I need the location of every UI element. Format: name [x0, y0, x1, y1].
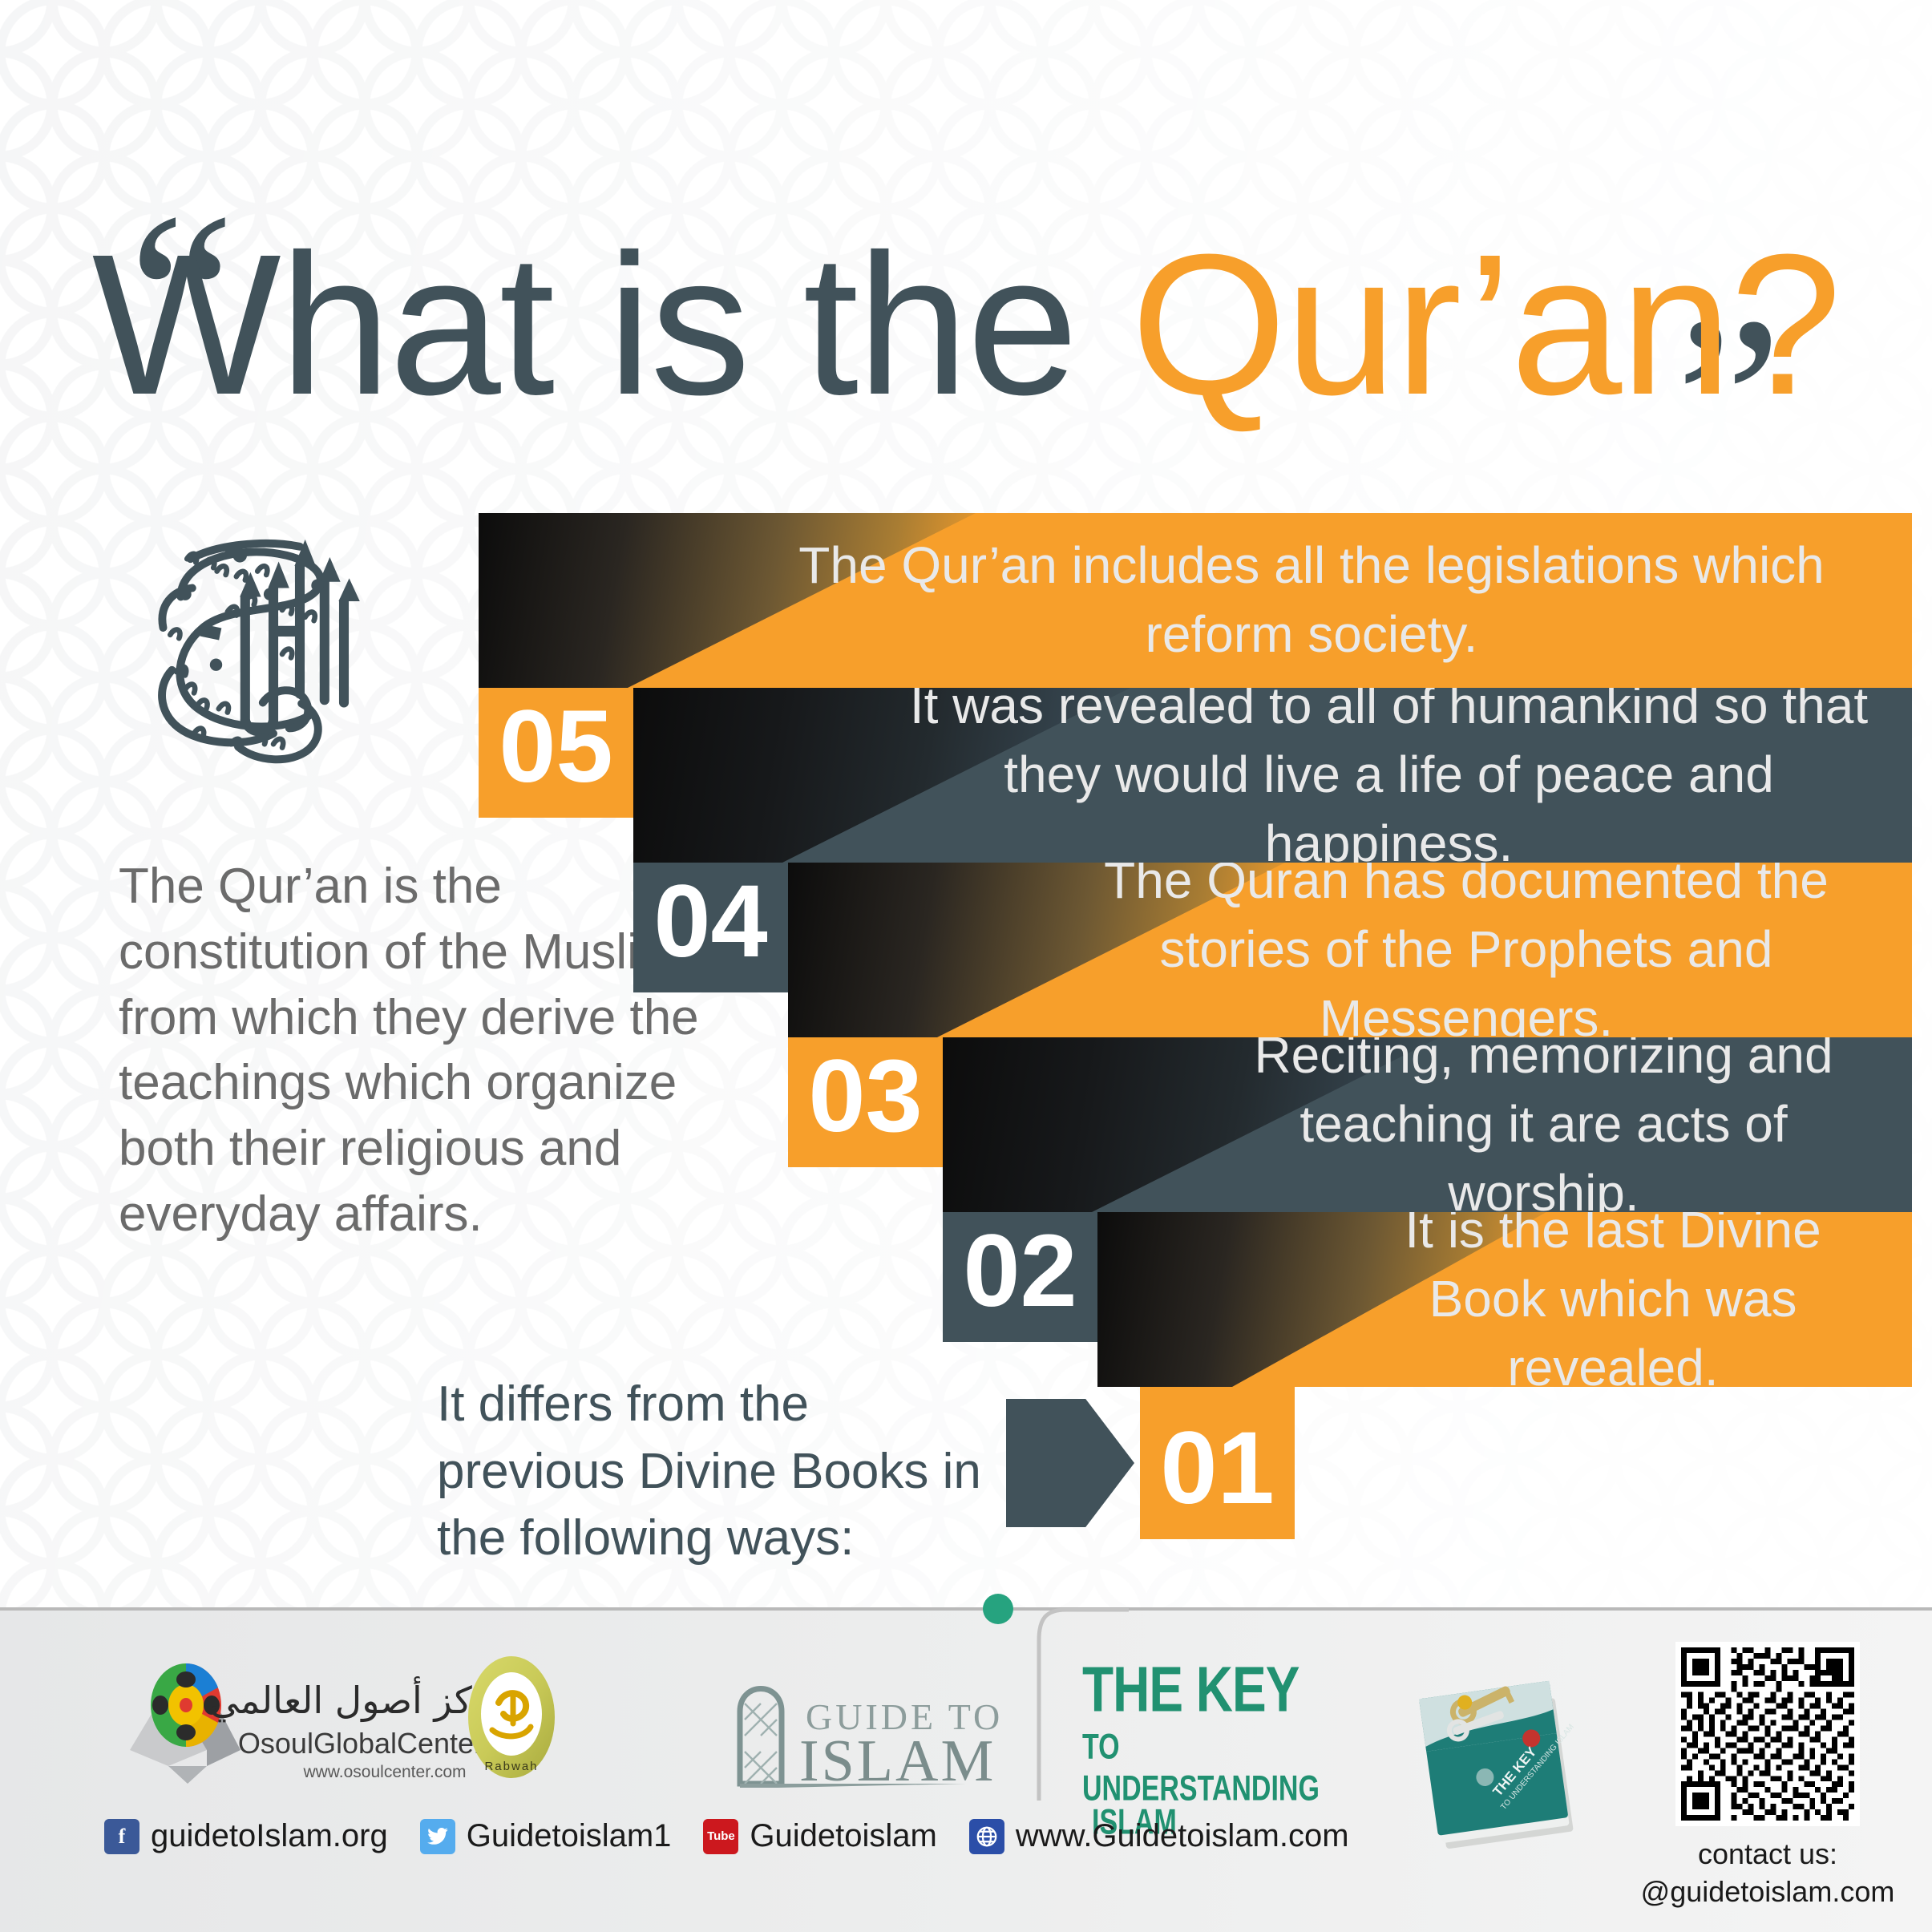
qr-code	[1675, 1642, 1860, 1826]
step-row-05: The Qur’an includes all the legislations…	[479, 513, 1912, 688]
facebook-icon: f	[104, 1819, 139, 1854]
step-row-02: Reciting, memorizing and teaching it are…	[943, 1037, 1912, 1212]
step-number-03-label: 03	[808, 1045, 922, 1148]
social-label-website: www.Guidetoislam.com	[1016, 1818, 1349, 1854]
step-number-04-label: 04	[653, 871, 767, 973]
youtube-icon: Tube	[703, 1819, 738, 1854]
contact-block: contact us: @guidetoislam.com	[1635, 1836, 1900, 1911]
step-number-02-label: 02	[963, 1220, 1077, 1323]
book-cover-image: THE KEY TO UNDERSTANDING ISLAM	[1415, 1639, 1599, 1872]
step-number-05: 05	[479, 688, 633, 818]
contact-label: contact us:	[1635, 1836, 1900, 1873]
svg-text:OsoulGlobalCenter: OsoulGlobalCenter	[238, 1727, 483, 1760]
step-number-02: 02	[943, 1212, 1097, 1342]
step-number-01: 01	[1140, 1387, 1295, 1539]
social-links-row: f guidetoIslam.org Guidetoislam1 Tube Gu…	[104, 1818, 1349, 1854]
svg-text:ISLAM: ISLAM	[799, 1728, 996, 1788]
rabwah-logo: Rabwah	[463, 1653, 560, 1781]
social-label-youtube: Guidetoislam	[750, 1818, 936, 1854]
the-key-subtitle: TO UNDERSTANDING	[1082, 1726, 1347, 1809]
infographic-page: “ ” What is the Qur’an?	[0, 0, 1932, 1932]
twitter-icon	[420, 1819, 455, 1854]
svg-text:www.osoulcenter.com: www.osoulcenter.com	[302, 1763, 466, 1781]
svg-text:Rabwah: Rabwah	[484, 1760, 538, 1773]
step-number-01-label: 01	[1160, 1417, 1274, 1520]
step-row-03: The Quran has documented the stories of …	[788, 863, 1912, 1037]
step-row-03-text: The Quran has documented the stories of …	[1021, 863, 1912, 1037]
social-label-twitter: Guidetoislam1	[467, 1818, 672, 1854]
step-row-01-text: It is the last Divine Book which was rev…	[1314, 1212, 1912, 1387]
step-number-04: 04	[633, 863, 788, 992]
step-row-04: It was revealed to all of humankind so t…	[633, 688, 1912, 863]
social-link-facebook[interactable]: f guidetoIslam.org	[104, 1818, 388, 1854]
step-row-04-text: It was revealed to all of humankind so t…	[866, 688, 1912, 863]
step-number-03: 03	[788, 1037, 943, 1167]
step-row-02-text: Reciting, memorizing and teaching it are…	[1175, 1037, 1912, 1212]
pointer-arrow-icon	[1006, 1399, 1134, 1527]
guide-to-islam-logo: GUIDE TO ISLAM	[726, 1663, 1062, 1788]
step-row-05-text: The Qur’an includes all the legislations…	[711, 513, 1912, 688]
intro-paragraph: It differs from the previous Divine Book…	[437, 1371, 990, 1572]
contact-value: @guidetoislam.com	[1635, 1873, 1900, 1911]
separator-dot-icon	[983, 1594, 1013, 1624]
footer-separator-line	[0, 1607, 1932, 1611]
website-icon	[969, 1819, 1004, 1854]
social-label-facebook: guidetoIslam.org	[151, 1818, 388, 1854]
the-key-title: THE KEY	[1082, 1658, 1347, 1720]
social-link-youtube[interactable]: Tube Guidetoislam	[703, 1818, 936, 1854]
the-key-branding: THE KEY TO UNDERSTANDING ISLAM	[1082, 1658, 1347, 1833]
social-link-website[interactable]: www.Guidetoislam.com	[969, 1818, 1349, 1854]
step-row-01: It is the last Divine Book which was rev…	[1097, 1212, 1912, 1387]
step-number-05-label: 05	[499, 696, 612, 798]
social-link-twitter[interactable]: Guidetoislam1	[420, 1818, 672, 1854]
